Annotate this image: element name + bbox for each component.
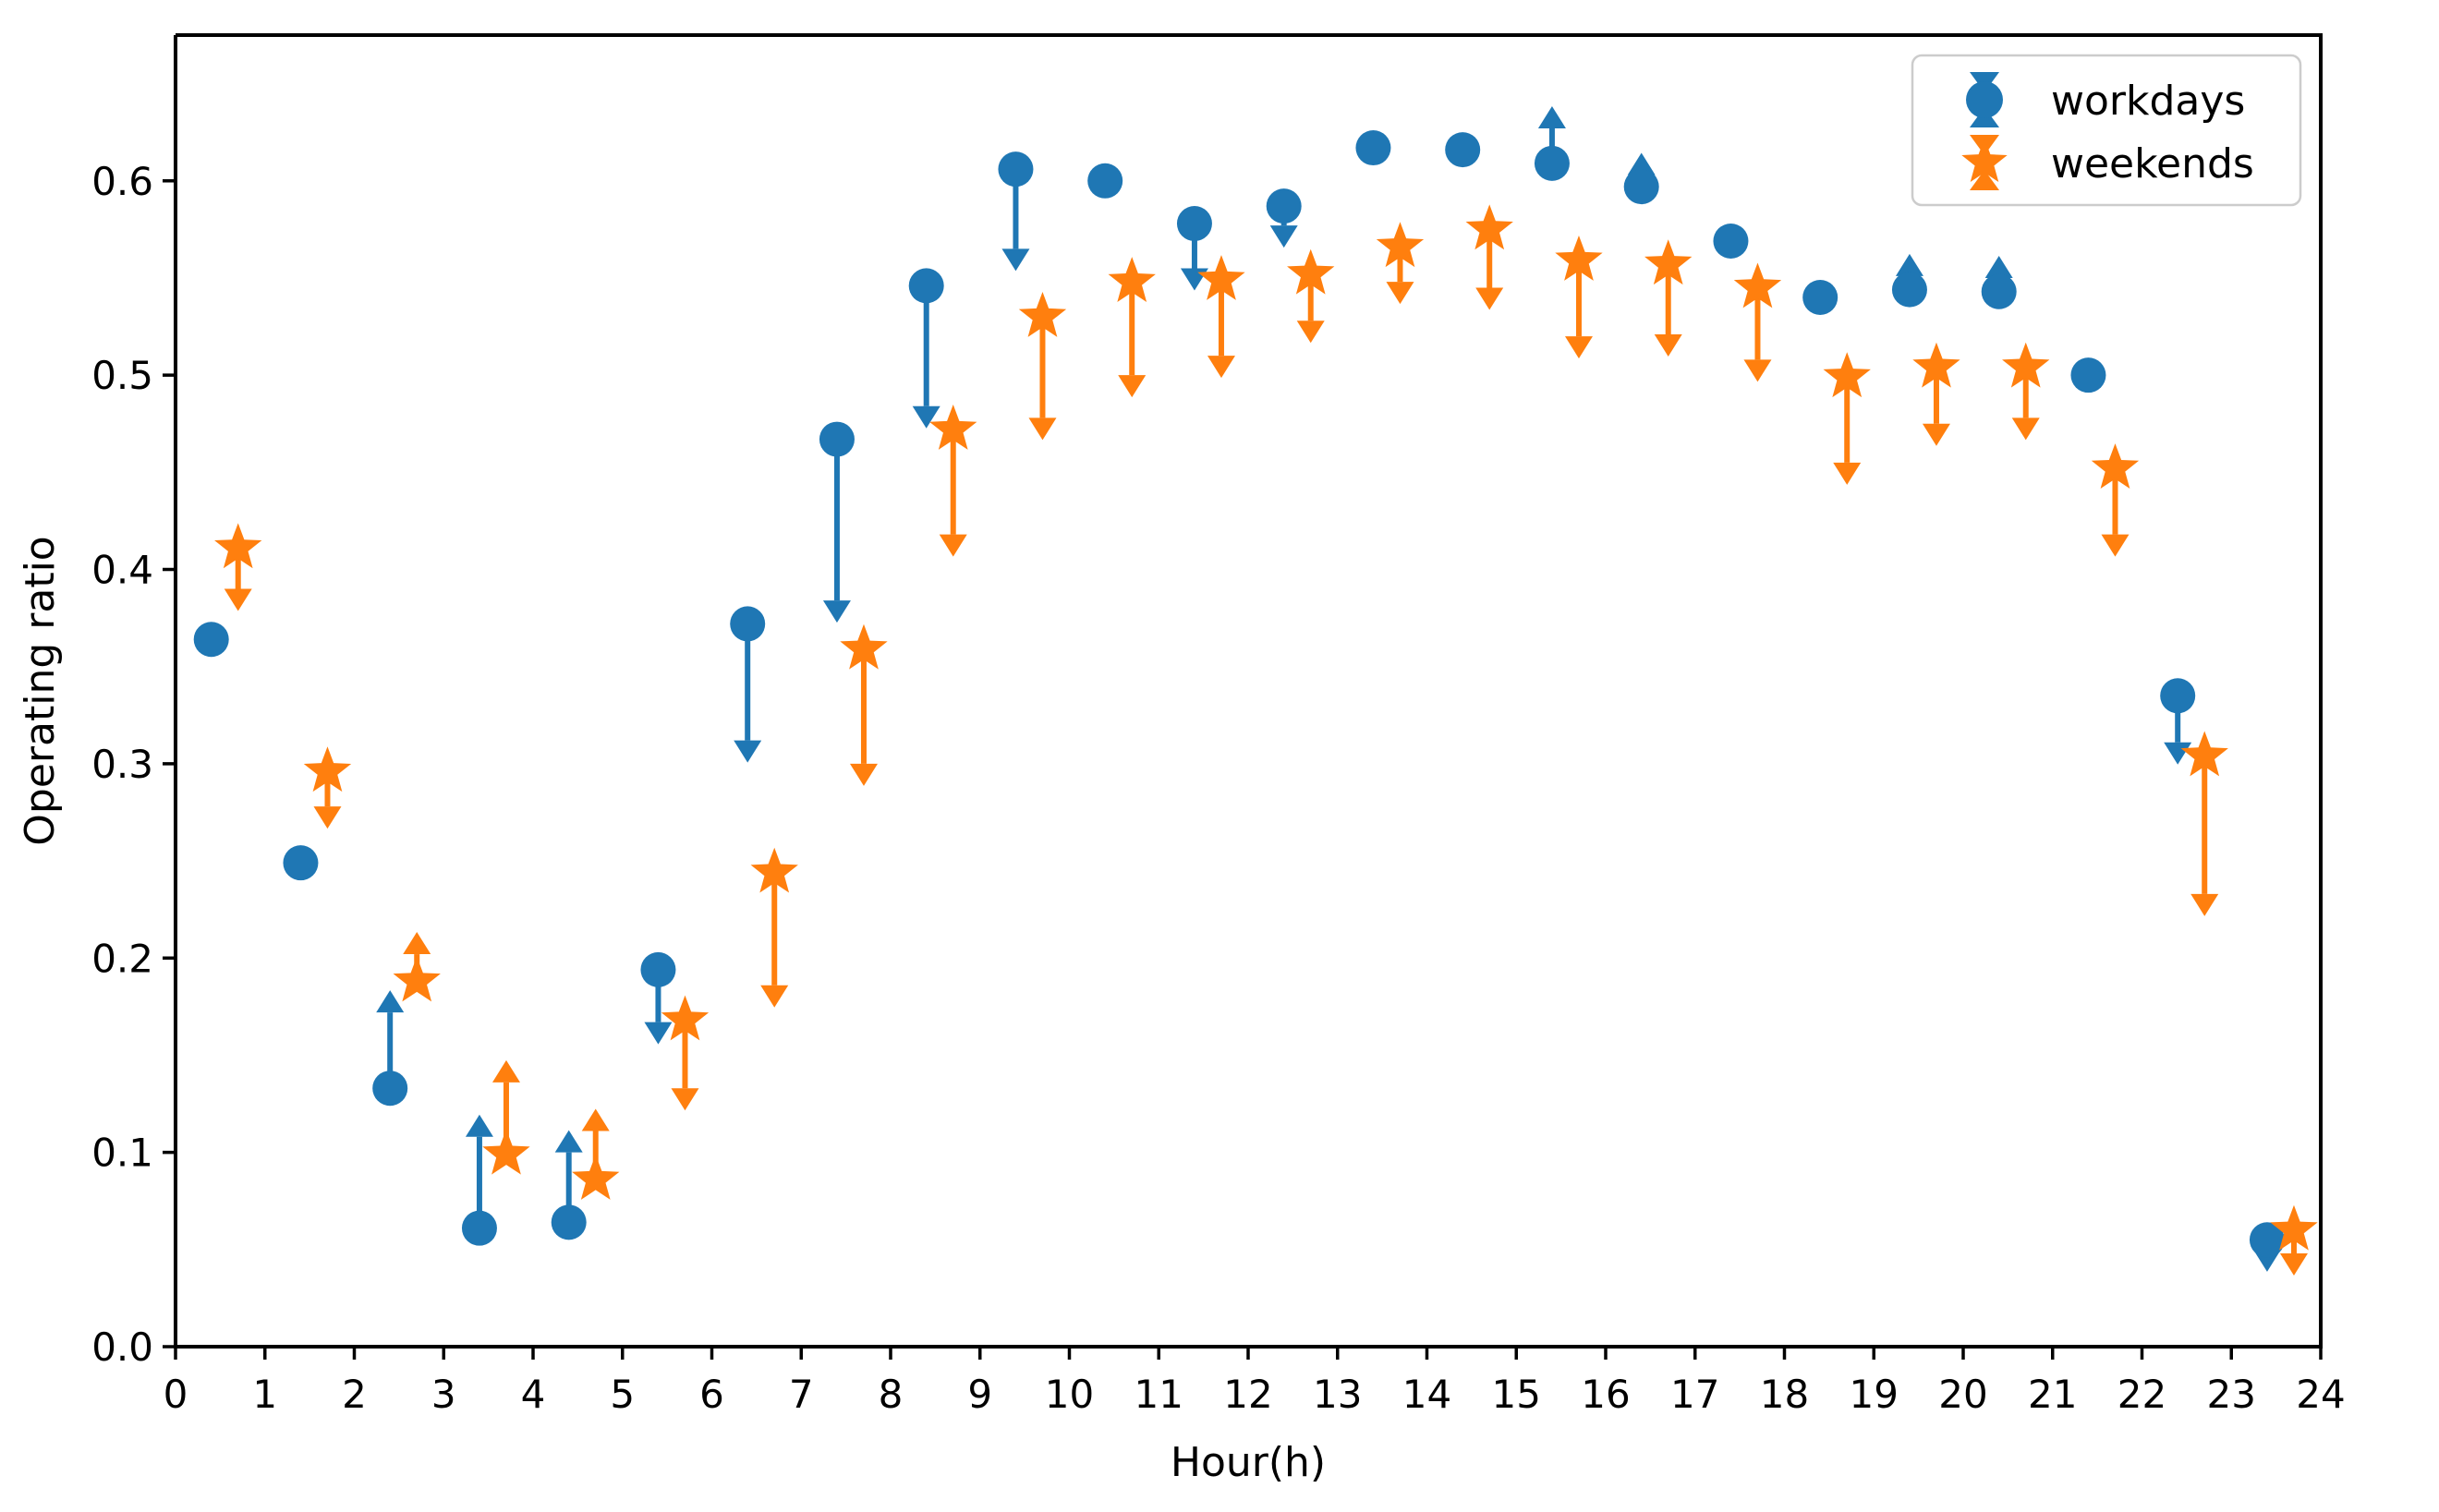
- workday-circle-marker: [1802, 280, 1838, 315]
- data-point: [751, 848, 798, 1008]
- data-point: [194, 622, 229, 657]
- data-point: [1197, 255, 1244, 378]
- x-tick-label: 24: [2296, 1372, 2345, 1417]
- x-tick-label: 5: [610, 1372, 635, 1417]
- workday-circle-marker: [1355, 130, 1390, 165]
- data-point: [1377, 222, 1424, 304]
- x-tick-label: 12: [1223, 1372, 1272, 1417]
- error-bar-arrow-icon: [1181, 268, 1208, 290]
- data-point: [1087, 163, 1122, 199]
- workday-circle-marker: [640, 952, 675, 987]
- data-point: [730, 606, 765, 762]
- error-bar-arrow-icon: [1028, 417, 1056, 440]
- error-bar-arrow-icon: [734, 741, 761, 763]
- x-tick-label: 22: [2117, 1372, 2166, 1417]
- x-tick-label: 14: [1402, 1372, 1451, 1417]
- weekend-star-marker: [572, 1155, 619, 1200]
- chart-legend: workdaysweekends: [1912, 55, 2300, 205]
- error-bar-arrow-icon: [1297, 321, 1325, 343]
- x-tick-label: 1: [252, 1372, 277, 1417]
- axis-labels-layer: Hour(h)Operating ratio: [17, 536, 1326, 1486]
- x-tick-label: 9: [967, 1372, 992, 1417]
- axes-layer: 0123456789101112131415161718192021222324…: [91, 35, 2346, 1417]
- workday-circle-marker: [998, 151, 1033, 187]
- error-bar-arrow-icon: [1475, 287, 1503, 309]
- workday-circle-marker: [730, 606, 765, 641]
- error-bar-arrow-icon: [2280, 1253, 2308, 1276]
- error-bar-arrow-icon: [582, 1108, 610, 1131]
- data-point: [2181, 731, 2228, 915]
- x-tick-label: 11: [1135, 1372, 1183, 1417]
- y-tick-label: 0.2: [91, 936, 153, 981]
- error-bar-arrow-icon: [1386, 282, 1414, 304]
- data-point: [1466, 204, 1513, 309]
- error-bar-arrow-icon: [2012, 417, 2040, 440]
- error-bar-arrow-icon: [2101, 535, 2129, 557]
- data-point: [214, 523, 261, 611]
- data-point: [482, 1060, 529, 1175]
- x-tick-label: 0: [164, 1372, 188, 1417]
- error-bar-arrow-icon: [492, 1060, 520, 1083]
- data-point: [1019, 292, 1066, 440]
- data-point: [2070, 357, 2105, 393]
- workday-circle-marker: [2160, 678, 2195, 713]
- data-point: [929, 405, 977, 557]
- legend-label: weekends: [2051, 140, 2254, 187]
- data-point: [2002, 343, 2049, 441]
- workday-circle-marker: [1177, 206, 1212, 241]
- data-point: [640, 952, 675, 1045]
- error-bar-arrow-icon: [376, 990, 404, 1012]
- data-point: [462, 1115, 497, 1246]
- error-bar-arrow-icon: [403, 932, 431, 954]
- workday-circle-marker: [1267, 188, 1302, 224]
- workday-circle-marker: [462, 1211, 497, 1246]
- workday-circle-marker: [1087, 163, 1122, 199]
- data-point: [909, 268, 944, 428]
- data-point: [840, 624, 887, 786]
- workday-circle-marker: [283, 845, 318, 880]
- x-tick-label: 20: [1938, 1372, 1987, 1417]
- data-point: [1802, 280, 1838, 315]
- error-bar-arrow-icon: [1833, 463, 1861, 485]
- y-tick-label: 0.4: [91, 548, 153, 593]
- legend-circle-marker: [1966, 81, 2003, 118]
- error-bar-arrow-icon: [1270, 225, 1298, 248]
- x-tick-label: 4: [521, 1372, 546, 1417]
- workday-circle-marker: [819, 422, 855, 457]
- error-bar-arrow-icon: [1923, 424, 1950, 446]
- data-point: [1109, 257, 1156, 397]
- x-tick-label: 15: [1492, 1372, 1541, 1417]
- data-point: [2092, 443, 2139, 557]
- data-point: [1555, 236, 1602, 358]
- data-point: [552, 1131, 587, 1240]
- error-bar-arrow-icon: [466, 1115, 493, 1137]
- data-point: [1912, 343, 1960, 446]
- chart-figure: 0123456789101112131415161718192021222324…: [0, 0, 2439, 1512]
- error-bar-arrow-icon: [224, 589, 252, 611]
- data-point: [1734, 262, 1781, 381]
- error-bar-arrow-icon: [1565, 336, 1593, 358]
- y-tick-label: 0.5: [91, 353, 153, 398]
- workday-circle-marker: [1445, 132, 1480, 167]
- x-tick-label: 18: [1760, 1372, 1809, 1417]
- y-axis-title: Operating ratio: [17, 536, 64, 845]
- error-bar-arrow-icon: [671, 1088, 698, 1110]
- data-point: [1267, 188, 1302, 248]
- data-point: [819, 422, 855, 623]
- x-tick-label: 8: [879, 1372, 904, 1417]
- x-tick-label: 21: [2028, 1372, 2077, 1417]
- series-weekends: [214, 204, 2318, 1276]
- x-tick-label: 3: [431, 1372, 456, 1417]
- error-bar-arrow-icon: [760, 986, 788, 1008]
- data-point: [304, 746, 351, 829]
- data-point: [1535, 106, 1570, 181]
- error-bar-arrow-icon: [1001, 248, 1029, 271]
- error-bar-arrow-icon: [2190, 894, 2218, 916]
- data-point: [1644, 239, 1692, 357]
- data-point: [1982, 256, 2017, 309]
- operating-ratio-scatter-chart: 0123456789101112131415161718192021222324…: [0, 0, 2439, 1512]
- x-tick-label: 16: [1581, 1372, 1630, 1417]
- legend-label: workdays: [2051, 78, 2245, 125]
- data-point: [998, 151, 1033, 271]
- data-points-layer: [194, 106, 2318, 1276]
- data-point: [1892, 254, 1927, 308]
- data-point: [1713, 224, 1748, 259]
- error-bar-arrow-icon: [1207, 356, 1235, 378]
- workday-circle-marker: [1535, 146, 1570, 181]
- workday-circle-marker: [552, 1204, 587, 1240]
- y-tick-label: 0.1: [91, 1131, 153, 1176]
- data-point: [1624, 152, 1659, 204]
- error-bar-arrow-icon: [1743, 359, 1771, 381]
- x-tick-label: 23: [2207, 1372, 2256, 1417]
- data-point: [572, 1108, 619, 1199]
- workday-circle-marker: [1982, 274, 2017, 309]
- error-bar-arrow-icon: [1655, 334, 1682, 357]
- data-point: [372, 990, 407, 1106]
- workday-circle-marker: [194, 622, 229, 657]
- x-tick-label: 6: [699, 1372, 724, 1417]
- y-tick-label: 0.3: [91, 742, 153, 787]
- error-bar-arrow-icon: [644, 1022, 672, 1045]
- data-point: [1445, 132, 1480, 167]
- workday-circle-marker: [372, 1070, 407, 1106]
- error-bar-arrow-icon: [555, 1131, 583, 1153]
- y-tick-label: 0.6: [91, 159, 153, 204]
- error-bar-arrow-icon: [1118, 375, 1146, 397]
- error-bar-arrow-icon: [850, 764, 878, 786]
- x-tick-label: 7: [789, 1372, 814, 1417]
- error-bar-arrow-icon: [313, 806, 341, 829]
- x-tick-label: 19: [1850, 1372, 1899, 1417]
- error-bar-arrow-icon: [1538, 106, 1566, 128]
- workday-circle-marker: [909, 268, 944, 303]
- data-point: [283, 845, 318, 880]
- data-point: [661, 996, 709, 1111]
- x-tick-label: 17: [1670, 1372, 1719, 1417]
- x-tick-label: 13: [1313, 1372, 1362, 1417]
- x-axis-title: Hour(h): [1171, 1439, 1326, 1486]
- weekend-star-marker: [394, 957, 441, 1002]
- workday-circle-marker: [1892, 272, 1927, 308]
- data-point: [1355, 130, 1390, 165]
- workday-circle-marker: [1713, 224, 1748, 259]
- data-point: [1287, 249, 1334, 343]
- data-point: [394, 932, 441, 1001]
- workday-circle-marker: [1624, 169, 1659, 204]
- x-tick-label: 2: [342, 1372, 367, 1417]
- data-point: [1824, 352, 1871, 485]
- error-bar-arrow-icon: [940, 535, 967, 557]
- x-tick-label: 10: [1045, 1372, 1094, 1417]
- y-tick-label: 0.0: [91, 1325, 153, 1370]
- workday-circle-marker: [2070, 357, 2105, 393]
- error-bar-arrow-icon: [823, 600, 851, 623]
